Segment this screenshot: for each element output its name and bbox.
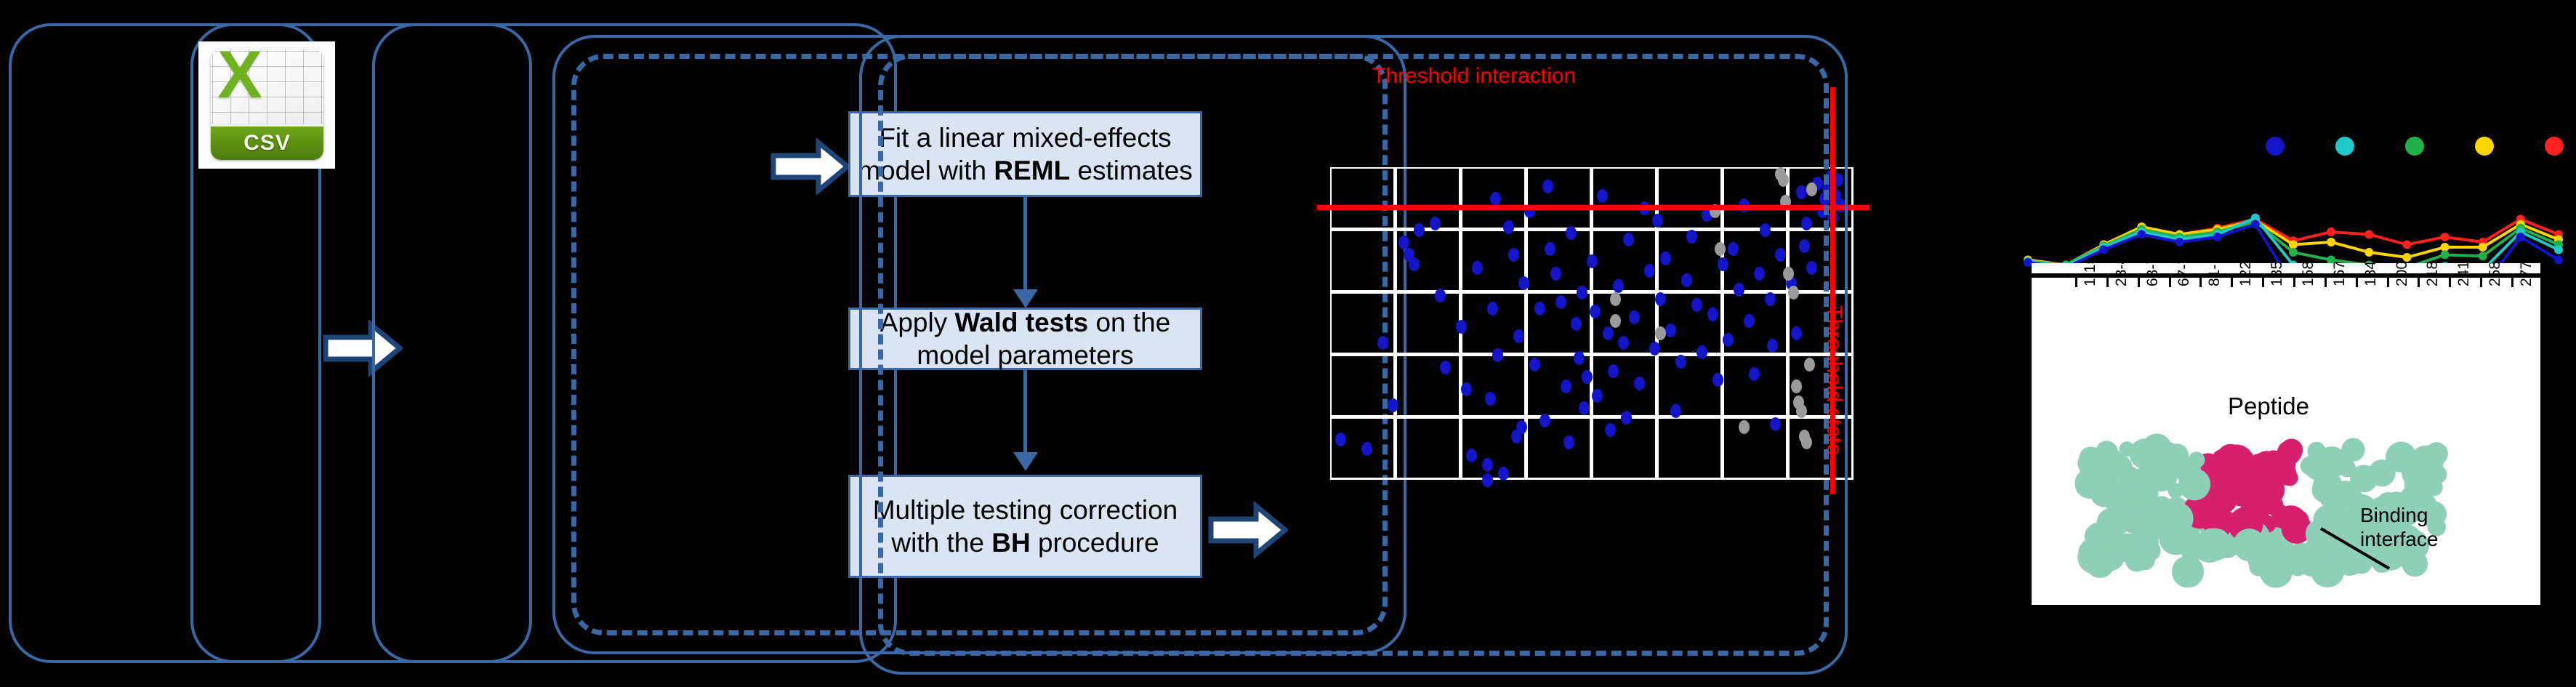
protein-residue-blob [2350,465,2378,492]
peptide-tick-label: 200-214 [2394,263,2411,286]
peptide-tick [2418,278,2420,287]
peptide-tick-label: 277-284 [2518,263,2535,286]
binding-interface-label: Binding interface [2360,503,2438,551]
protein-residue-blob [2109,478,2123,493]
peptide-tick-label: 158-166 [2300,263,2317,286]
legend-dot [2545,137,2564,156]
peptide-tick-label: 258-266 [2487,263,2504,286]
peptide-tick-label: 1-15 [2082,263,2099,286]
excel-x-icon: X [214,49,266,106]
peptide-marker [2402,253,2411,262]
protein-residue-blob [2325,507,2354,536]
protein-residue-blob [2327,550,2351,574]
legend-dot [2335,137,2354,156]
legend-dot [2405,137,2424,156]
peptide-marker [2441,251,2450,260]
peptide-marker [2327,238,2335,246]
peptide-tick [2480,278,2482,287]
csv-card: X CSV [211,49,323,160]
figure-canvas: X CSV Fit a linear mixed-effects model w… [0,0,2576,687]
csv-label-band: CSV [211,124,323,160]
protein-residue-blob [2410,446,2444,480]
peptide-tick-label: 122-129 [2237,263,2255,286]
peptide-tick-label: 81-101 [2206,263,2223,286]
peptide-marker [2213,233,2222,241]
peptide-marker [2479,243,2487,252]
peptide-tick-label: 241-257 [2455,263,2473,286]
peptide-marker [2364,230,2373,239]
protein-residue-blob [2319,473,2343,496]
peptide-axis-title: Peptide [2228,393,2309,420]
peptide-tick [2387,278,2389,287]
peptide-tick-label: 218-237 [2424,263,2442,286]
protein-residue-blob [2178,468,2210,500]
peptide-tick [2449,278,2451,287]
csv-label: CSV [243,131,291,156]
peptide-marker [2364,248,2373,257]
csv-file-icon[interactable]: X CSV [198,41,335,169]
peptide-tick [2199,278,2202,287]
peptide-marker [2516,233,2525,241]
peptide-marker [2327,228,2335,236]
peptide-tick [2293,278,2295,287]
peptide-marker [2554,246,2563,254]
peptide-tick [2075,278,2077,287]
peptide-tick [2106,278,2109,287]
binding-interface-line2: interface [2360,527,2438,551]
peptide-marker [2137,230,2146,239]
protein-residue-blob [2277,441,2302,465]
peptide-tick [2325,278,2327,287]
peptide-marker [2289,241,2298,249]
protein-residue-blob [2233,529,2266,561]
peptide-tick [2231,278,2233,287]
protein-residue-blob [2130,438,2160,469]
peptide-marker [2402,241,2411,249]
peptide-marker [2251,220,2260,229]
peptide-marker [2175,238,2184,246]
protein-residue-blob [2250,457,2277,484]
peptide-tick-label: 167-180 [2331,263,2348,286]
peptide-tick-label: 135-144 [2269,263,2286,286]
peptide-tick [2262,278,2264,287]
protein-residue-blob [2210,449,2240,479]
legend-dot [2266,137,2285,156]
peptide-marker [2479,252,2487,260]
legend-dot [2475,137,2494,156]
peptide-marker [2554,256,2563,265]
protein-residue-blob [2189,451,2205,468]
protein-residue-blob [2172,555,2204,587]
peptide-marker [2441,233,2450,241]
peptide-marker [2441,243,2450,252]
protein-residue-blob [2198,529,2223,554]
peptide-tick-label: 63-73 [2144,263,2162,286]
protein-residue-blob [2303,454,2326,476]
peptide-tick-label: 67-75 [2175,263,2193,286]
protein-residue-blob [2165,443,2189,467]
peptide-structure-figure: 1-1528-4463-7367-7581-101122-129135-1441… [2032,263,2540,605]
protein-residue-blob [2341,438,2364,461]
results-panel [859,35,1848,675]
peptide-tick-label: 184-199 [2362,263,2380,286]
peptide-tick [2511,278,2513,287]
peptide-tick-label: 28-44 [2113,263,2130,286]
peptide-marker [2099,246,2108,254]
peptide-tick [2138,278,2140,287]
binding-interface-line1: Binding [2360,503,2438,527]
peptide-tick [2169,278,2171,287]
protein-residue-blob [2098,446,2120,467]
protein-residue-blob [2404,551,2423,570]
protein-residue-blob [2113,534,2142,563]
peptide-tick [2356,278,2358,287]
peptide-marker [2289,248,2298,257]
